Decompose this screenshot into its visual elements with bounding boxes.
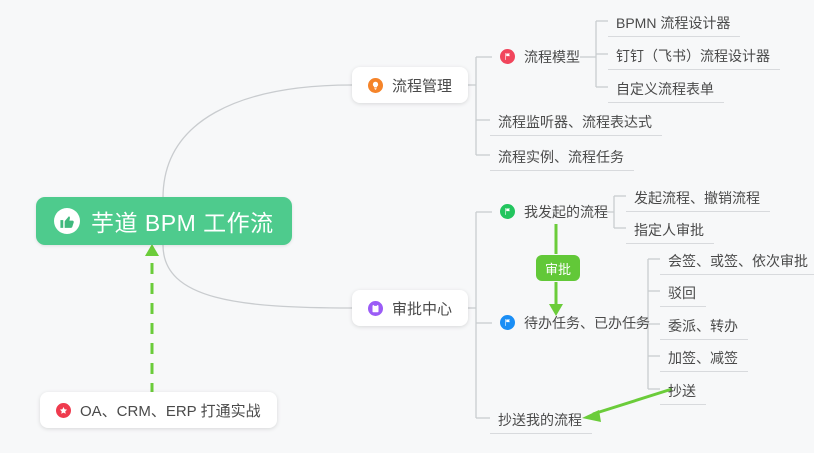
node-reject-label: 驳回 (668, 283, 696, 303)
node-cc-to-me-process[interactable]: 抄送我的流程 (490, 404, 592, 434)
root-node-label: 芋道 BPM 工作流 (91, 204, 274, 238)
mindmap-canvas: 芋道 BPM 工作流 流程管理 流程模型 BPMN 流程设计器 钉钉（飞书）流程… (0, 0, 814, 453)
branch-approval-center-label: 审批中心 (392, 298, 452, 319)
node-process-model[interactable]: 流程模型 (492, 42, 590, 72)
node-process-listener-expression[interactable]: 流程监听器、流程表达式 (490, 106, 662, 136)
thumbs-up-icon (54, 208, 80, 234)
node-start-cancel-process-label: 发起流程、撤销流程 (634, 188, 760, 208)
link-root-to-approval-center (163, 245, 352, 308)
node-process-model-label: 流程模型 (524, 47, 580, 67)
node-delegate-transfer-label: 委派、转办 (668, 316, 738, 336)
node-process-instance-task[interactable]: 流程实例、流程任务 (490, 141, 634, 171)
star-icon (56, 403, 71, 418)
node-process-listener-expression-label: 流程监听器、流程表达式 (498, 112, 652, 132)
integration-card[interactable]: OA、CRM、ERP 打通实战 (40, 392, 277, 428)
lightbulb-icon (368, 78, 383, 93)
node-delegate-transfer[interactable]: 委派、转办 (660, 310, 748, 340)
arrow-integration-head (145, 244, 159, 256)
branch-approval-center[interactable]: 审批中心 (352, 290, 468, 326)
node-cc[interactable]: 抄送 (660, 375, 706, 405)
node-bpmn-designer-label: BPMN 流程设计器 (616, 13, 730, 33)
node-countersign-or-sequential-label: 会签、或签、依次审批 (668, 251, 808, 271)
node-cc-label: 抄送 (668, 381, 696, 401)
root-node[interactable]: 芋道 BPM 工作流 (36, 197, 292, 245)
flag-icon (500, 49, 515, 64)
node-start-cancel-process[interactable]: 发起流程、撤销流程 (626, 182, 770, 212)
node-todo-done-task[interactable]: 待办任务、已办任务 (492, 308, 660, 338)
node-dingtalk-feishu-designer-label: 钉钉（飞书）流程设计器 (616, 46, 770, 66)
integration-card-label: OA、CRM、ERP 打通实战 (80, 400, 261, 421)
approval-chip-label: 审批 (545, 259, 571, 278)
node-custom-process-form-label: 自定义流程表单 (616, 79, 714, 99)
node-assignee-approval[interactable]: 指定人审批 (626, 214, 714, 244)
flag-icon (500, 204, 515, 219)
node-assignee-approval-label: 指定人审批 (634, 220, 704, 240)
node-todo-done-task-label: 待办任务、已办任务 (524, 313, 650, 333)
branch-process-management[interactable]: 流程管理 (352, 67, 468, 103)
flag-icon (500, 315, 515, 330)
node-reject[interactable]: 驳回 (660, 277, 706, 307)
branch-process-management-label: 流程管理 (392, 75, 452, 96)
node-process-instance-task-label: 流程实例、流程任务 (498, 147, 624, 167)
link-root-to-process-management (163, 85, 352, 198)
node-my-started-process-label: 我发起的流程 (524, 202, 608, 222)
node-bpmn-designer[interactable]: BPMN 流程设计器 (608, 7, 740, 37)
approval-chip: 审批 (536, 255, 580, 281)
node-custom-process-form[interactable]: 自定义流程表单 (608, 73, 724, 103)
node-add-remove-sign[interactable]: 加签、减签 (660, 342, 748, 372)
node-dingtalk-feishu-designer[interactable]: 钉钉（飞书）流程设计器 (608, 40, 780, 70)
node-cc-to-me-process-label: 抄送我的流程 (498, 410, 582, 430)
clipboard-icon (368, 301, 383, 316)
node-add-remove-sign-label: 加签、减签 (668, 348, 738, 368)
node-my-started-process[interactable]: 我发起的流程 (492, 197, 618, 227)
node-countersign-or-sequential[interactable]: 会签、或签、依次审批 (660, 245, 814, 275)
